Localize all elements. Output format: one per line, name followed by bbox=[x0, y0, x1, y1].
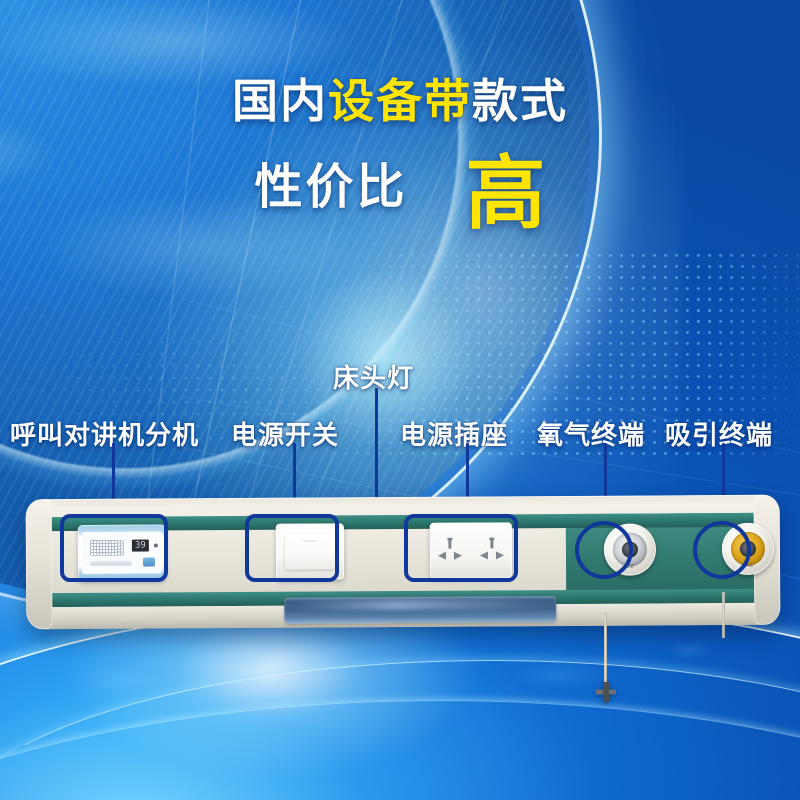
callout-label-intercom: 呼叫对讲机分机 bbox=[10, 415, 199, 452]
headline-part-2: 款式 bbox=[472, 75, 568, 127]
headline-emphasis: 高 bbox=[466, 154, 546, 234]
headline-highlight: 设备带 bbox=[328, 75, 472, 127]
bed-light-glow bbox=[296, 599, 544, 611]
callout-circle-suction bbox=[693, 521, 751, 579]
headline-line-1: 国内设备带款式 bbox=[0, 78, 800, 124]
callout-label-suction-outlet: 吸引终端 bbox=[665, 415, 773, 452]
headline-line-2: 性价比 bbox=[254, 164, 407, 212]
callout-label-power-socket: 电源插座 bbox=[400, 415, 508, 452]
callout-label-oxygen-outlet: 氧气终端 bbox=[537, 415, 645, 452]
callout-circle-oxygen bbox=[575, 521, 633, 579]
panel-end-cap-left bbox=[26, 499, 53, 629]
headline-part-1: 国内 bbox=[232, 75, 328, 127]
world-map-silhouette bbox=[0, 620, 800, 800]
callout-box-power-socket bbox=[404, 514, 518, 582]
callout-label-power-switch: 电源开关 bbox=[231, 415, 339, 452]
callout-label-bed-light: 床头灯 bbox=[333, 358, 414, 395]
headline-line-2-row: 性价比 高 bbox=[0, 148, 800, 228]
callout-box-intercom bbox=[60, 514, 168, 582]
headline-block: 国内设备带款式 性价比 高 bbox=[0, 78, 800, 228]
oxygen-plug-fitting bbox=[596, 682, 616, 702]
callout-box-power-switch bbox=[245, 514, 339, 582]
oxygen-hose-cord bbox=[604, 612, 607, 690]
suction-hose-cord bbox=[722, 592, 725, 638]
poster-canvas: 国内设备带款式 性价比 高 呼叫对讲机分机 电源开关 床头灯 电源插座 氧气终端… bbox=[0, 0, 800, 800]
